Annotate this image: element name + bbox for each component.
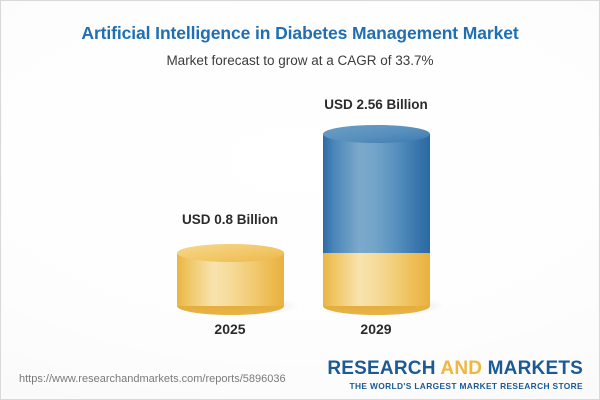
bar-value-label-2025: USD 0.8 Billion — [120, 212, 340, 227]
logo-wordmark: RESEARCH AND MARKETS — [327, 359, 583, 378]
cylinder-top-2029 — [323, 125, 430, 143]
cylinder-segment-base-2029 — [323, 253, 430, 306]
category-label-2029: 2029 — [266, 321, 486, 337]
cylinder-segment-growth-2029 — [323, 134, 430, 253]
cylinder-top-2025 — [177, 244, 284, 262]
chart-card: Artificial Intelligence in Diabetes Mana… — [0, 0, 600, 400]
cylinder-2029[interactable] — [323, 125, 430, 306]
cylinder-2025[interactable] — [177, 244, 284, 306]
research-and-markets-logo[interactable]: RESEARCH AND MARKETS THE WORLD'S LARGEST… — [327, 359, 583, 390]
logo-word-and: AND — [440, 358, 482, 379]
bar-value-label-2029: USD 2.56 Billion — [266, 97, 486, 112]
source-url[interactable]: https://www.researchandmarkets.com/repor… — [19, 373, 286, 385]
logo-word-research: RESEARCH — [327, 358, 435, 379]
logo-word-markets: MARKETS — [488, 358, 583, 379]
bar-chart-plot: USD 0.8 Billion 2025 USD 2.56 Billion — [1, 1, 600, 400]
logo-tagline: THE WORLD'S LARGEST MARKET RESEARCH STOR… — [327, 382, 583, 390]
